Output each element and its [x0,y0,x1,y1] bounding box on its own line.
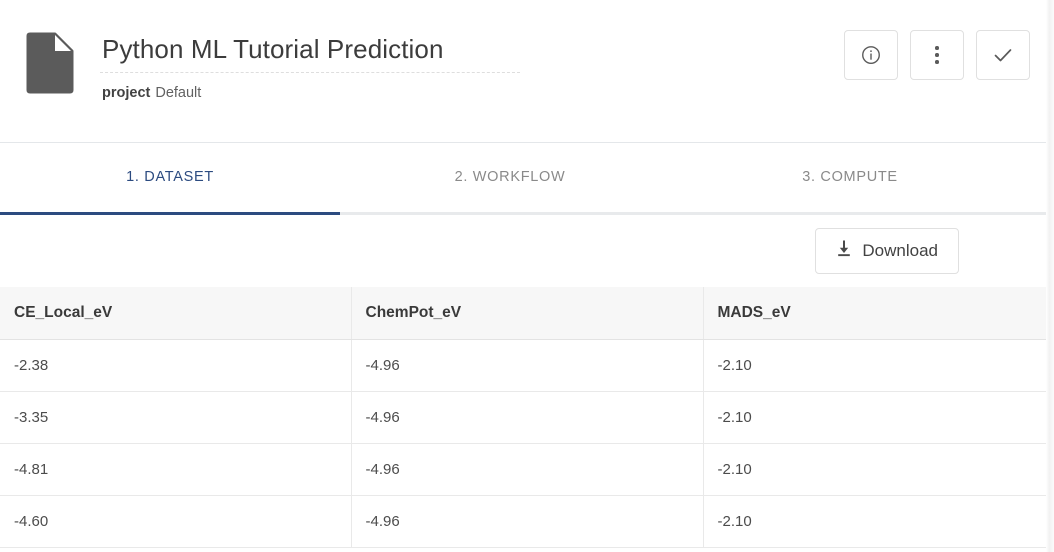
table-header-row: CE_Local_eV ChemPot_eV MADS_eV [0,287,1054,339]
project-label: project [102,85,150,101]
cell-chempot-ev: -4.96 [351,339,703,391]
tab-dataset[interactable]: 1. DATASET [0,143,340,212]
dataset-table-scroll[interactable]: CE_Local_eV ChemPot_eV MADS_eV -2.38 -4.… [0,287,1054,552]
cell-ce-local-ev: -4.60 [0,495,351,547]
table-header: CE_Local_eV ChemPot_eV MADS_eV [0,287,1054,339]
dataset-table: CE_Local_eV ChemPot_eV MADS_eV -2.38 -4.… [0,287,1054,548]
table-row[interactable]: -4.60 -4.96 -2.10 [0,495,1054,547]
column-header-chempot-ev[interactable]: ChemPot_eV [351,287,703,339]
confirm-button[interactable] [976,30,1030,80]
tab-workflow-label: 2. WORKFLOW [455,169,566,185]
more-vertical-icon [935,46,939,64]
document-icon-wrapper [0,28,100,99]
project-value[interactable]: Default [155,85,201,101]
download-button[interactable]: Download [815,228,959,274]
document-title-input[interactable]: Python ML Tutorial Prediction [100,30,520,73]
cell-chempot-ev: -4.96 [351,391,703,443]
cell-ce-local-ev: -3.35 [0,391,351,443]
page-scrollbar[interactable] [1046,0,1054,552]
tab-compute[interactable]: 3. COMPUTE [680,143,1020,212]
cell-mads-ev: -2.10 [703,443,1054,495]
cell-ce-local-ev: -4.81 [0,443,351,495]
tab-bar: 1. DATASET 2. WORKFLOW 3. COMPUTE [0,143,1054,215]
table-row[interactable]: -3.35 -4.96 -2.10 [0,391,1054,443]
more-menu-button[interactable] [910,30,964,80]
cell-chempot-ev: -4.96 [351,495,703,547]
title-block: Python ML Tutorial Prediction projectDef… [100,28,844,102]
table-row[interactable]: -4.81 -4.96 -2.10 [0,443,1054,495]
cell-chempot-ev: -4.96 [351,443,703,495]
download-icon [836,240,852,262]
dataset-toolbar: Download [0,215,1054,287]
download-button-label: Download [862,241,938,261]
info-circle-icon [860,44,882,66]
table-row[interactable]: -2.38 -4.96 -2.10 [0,339,1054,391]
page-header: Python ML Tutorial Prediction projectDef… [0,0,1054,143]
check-icon [991,43,1015,67]
project-line: projectDefault [100,84,844,102]
cell-mads-ev: -2.10 [703,339,1054,391]
info-button[interactable] [844,30,898,80]
column-header-mads-ev[interactable]: MADS_eV [703,287,1054,339]
table-body: -2.38 -4.96 -2.10 -3.35 -4.96 -2.10 -4.8… [0,339,1054,547]
column-header-ce-local-ev[interactable]: CE_Local_eV [0,287,351,339]
active-tab-indicator [0,212,340,215]
tab-compute-label: 3. COMPUTE [802,169,898,185]
cell-ce-local-ev: -2.38 [0,339,351,391]
app-root: Python ML Tutorial Prediction projectDef… [0,0,1054,552]
tab-dataset-label: 1. DATASET [126,169,214,185]
cell-mads-ev: -2.10 [703,391,1054,443]
header-actions [844,28,1036,80]
cell-mads-ev: -2.10 [703,495,1054,547]
tab-workflow[interactable]: 2. WORKFLOW [340,143,680,212]
document-icon [26,32,74,99]
